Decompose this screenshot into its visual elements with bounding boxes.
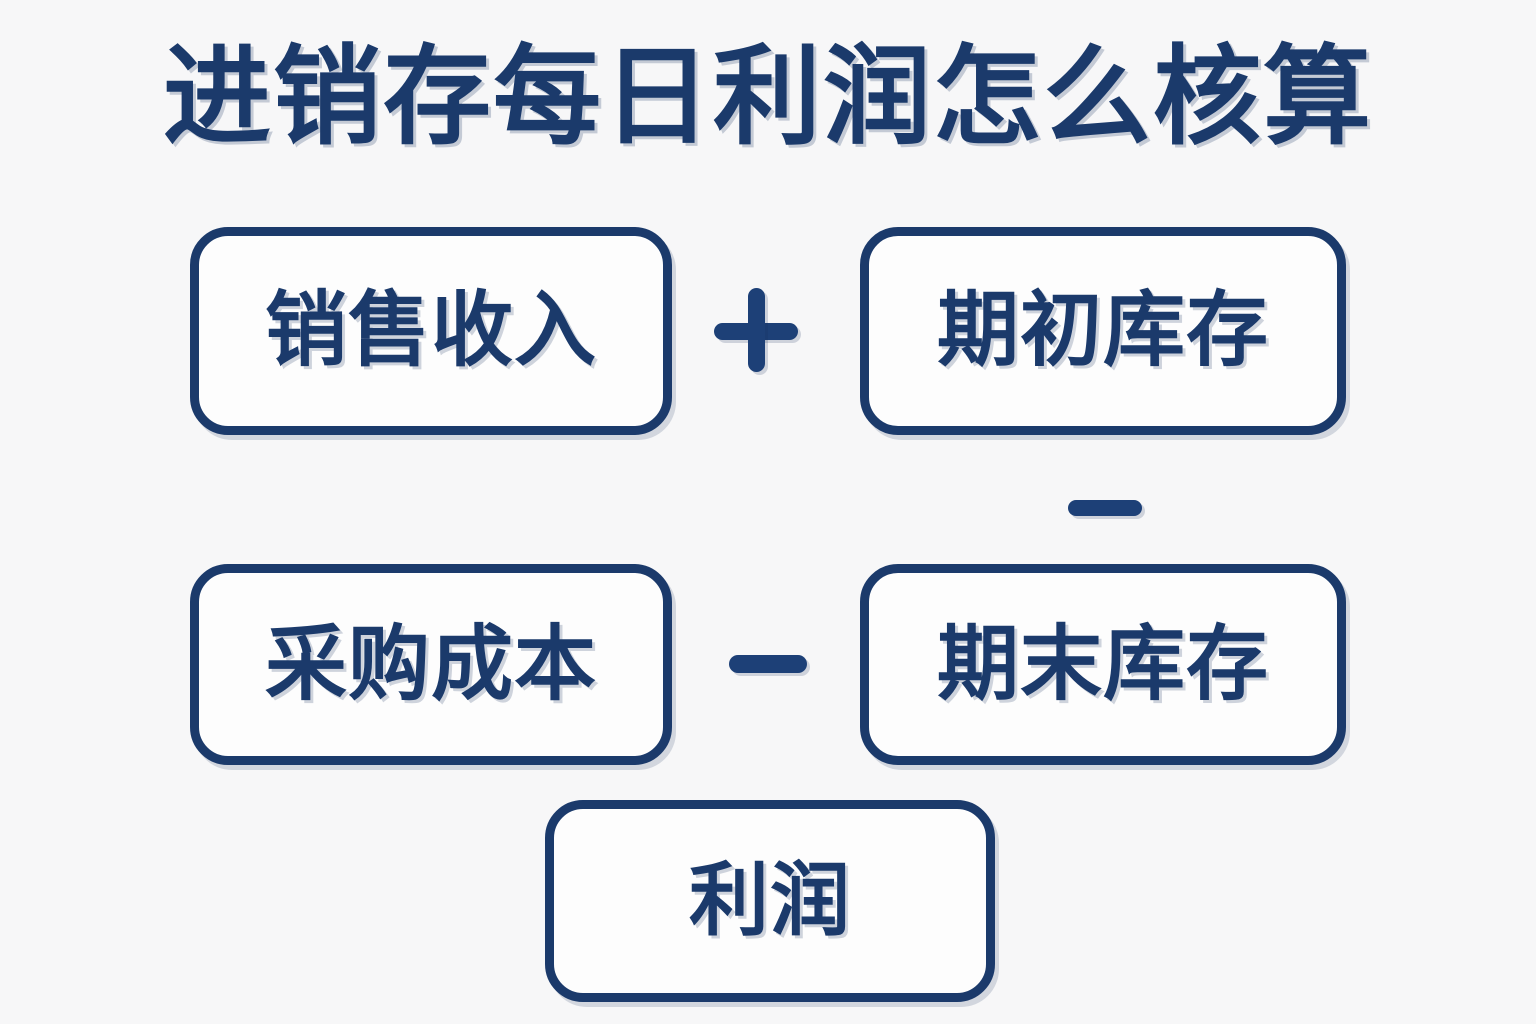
page-title: 进销存每日利润怎么核算 bbox=[0, 34, 1536, 160]
minus-operator-row-icon bbox=[729, 655, 807, 673]
box-label-opening-inventory: 期初库存 bbox=[937, 286, 1269, 376]
box-label-closing-inventory: 期末库存 bbox=[937, 620, 1269, 710]
profit-formula-infographic: 进销存每日利润怎么核算 销售收入 期初库存 采购成本 期末库存 利润 bbox=[0, 0, 1536, 1024]
minus-column-bar bbox=[1068, 500, 1142, 516]
box-purchase-cost: 采购成本 bbox=[190, 564, 672, 765]
plus-vertical-bar bbox=[748, 288, 765, 372]
box-sales-revenue: 销售收入 bbox=[190, 227, 672, 435]
box-label-sales-revenue: 销售收入 bbox=[265, 286, 597, 376]
box-label-purchase-cost: 采购成本 bbox=[265, 620, 597, 710]
box-profit: 利润 bbox=[545, 800, 995, 1002]
box-label-profit: 利润 bbox=[689, 856, 851, 946]
plus-operator-icon bbox=[714, 288, 798, 372]
minus-row-bar bbox=[729, 655, 807, 673]
box-opening-inventory: 期初库存 bbox=[860, 227, 1346, 435]
box-closing-inventory: 期末库存 bbox=[860, 564, 1346, 765]
minus-operator-column-icon bbox=[1068, 500, 1142, 516]
